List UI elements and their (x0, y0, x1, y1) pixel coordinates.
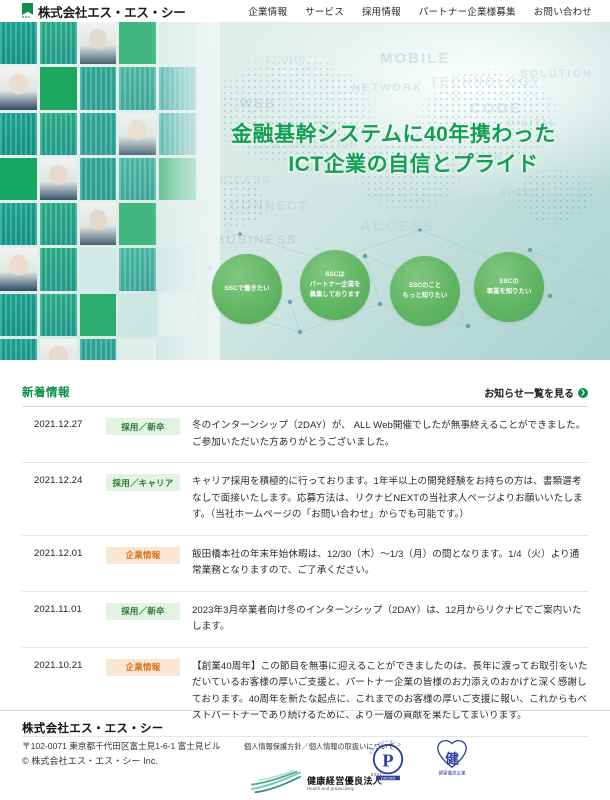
mosaic-color-tile (119, 203, 156, 245)
logo-text: 株式会社エス・エス・シー (38, 2, 186, 21)
pmark-number: 10823506 (381, 777, 396, 781)
news-date: 2021.11.01 (34, 603, 106, 615)
mosaic-color-tile (80, 158, 117, 200)
mosaic-color-tile (40, 113, 77, 155)
ssc-flag-logo-icon: ssc (22, 3, 33, 19)
logo-dots-label: ssc (22, 15, 30, 19)
hero-headline: 金融基幹システムに40年携わった ICT企業の自信とプライド (195, 120, 592, 181)
cta-circle-label: SSCのこともっと知りたい (398, 281, 453, 302)
cta-circle-business[interactable]: SSCの事業を知りたい (474, 252, 544, 322)
mosaic-color-tile (159, 22, 196, 64)
news-row[interactable]: 2021.12.27採用／新卒冬のインターンシップ（2DAY）が、 ALL We… (22, 407, 588, 463)
kenko-yuryo-kigyo-badge-icon: 健 健康優良企業 (432, 738, 472, 780)
nav-item-services[interactable]: サービス (305, 4, 344, 18)
mosaic-color-tile (80, 294, 117, 336)
mosaic-color-tile (119, 67, 156, 109)
footer-company-block: 株式会社エス・エス・シー 〒102-0071 東京都千代田区富士見1-6-1 富… (22, 720, 221, 800)
mosaic-color-tile (119, 22, 156, 64)
kenko-subtitle: Health and productivity (307, 787, 382, 792)
mosaic-photo-tile (119, 113, 156, 155)
mosaic-photo-tile (80, 22, 117, 64)
news-list: 2021.12.27採用／新卒冬のインターンシップ（2DAY）が、 ALL We… (22, 407, 588, 737)
svg-text:健康優良企業: 健康優良企業 (438, 769, 466, 776)
mosaic-color-tile (159, 113, 196, 155)
news-row[interactable]: 2021.11.01採用／新卒2023年3月卒業者向け冬のインターンシップ（2D… (22, 592, 588, 648)
footer-company-name: 株式会社エス・エス・シー (22, 720, 221, 736)
cta-circle-label: SSCで働きたい (219, 284, 274, 294)
news-text: 飯田橋本社の年末年始休暇は、12/30（木）〜1/3（月）の間となります。1/4… (192, 547, 588, 580)
site-logo[interactable]: ssc 株式会社エス・エス・シー (22, 2, 186, 21)
news-view-all-link[interactable]: お知らせ一覧を見る ❯ (484, 385, 588, 400)
footer-address: 〒102-0071 東京都千代田区富士見1-6-1 富士見ビル (22, 740, 221, 753)
mosaic-color-tile (119, 248, 156, 290)
chevron-right-circle-icon: ❯ (578, 388, 588, 398)
svg-text:健: 健 (445, 751, 459, 767)
news-row[interactable]: 2021.12.01企業情報飯田橋本社の年末年始休暇は、12/30（木）〜1/3… (22, 536, 588, 592)
nav-item-company[interactable]: 企業情報 (248, 4, 287, 18)
mosaic-photo-tile (40, 339, 77, 360)
mosaic-photo-tile (80, 203, 117, 245)
mosaic-photo-tile (0, 248, 37, 290)
cta-circle-work-at-ssc[interactable]: SSCで働きたい (212, 254, 282, 324)
mosaic-color-tile (80, 113, 117, 155)
news-header: 新着情報 お知らせ一覧を見る ❯ (22, 384, 588, 407)
footer-copyright: © 株式会社エス・エス・シー Inc. (22, 754, 221, 767)
mosaic-color-tile (0, 294, 37, 336)
footer-certification-badges: P プライバシーマーク 10823506 健 健康優良企業 (366, 738, 472, 784)
mosaic-color-tile (119, 339, 156, 360)
nav-item-partners[interactable]: パートナー企業様募集 (419, 4, 516, 18)
news-text: 冬のインターンシップ（2DAY）が、 ALL Web開催でしたが無事終えることが… (192, 418, 588, 451)
cta-circle-about-ssc[interactable]: SSCのこともっと知りたい (390, 256, 460, 326)
mosaic-color-tile (80, 248, 117, 290)
hero-banner: CLOUDNETWORKWEBADVANCECOMMUNICATIONIOTTE… (0, 22, 610, 360)
hero-photo-mosaic (0, 22, 196, 360)
news-text: キャリア採用を積極的に行っております。1年半以上の開発経験をお持ちの方は、書類選… (192, 474, 588, 524)
nav-item-careers[interactable]: 採用情報 (362, 4, 401, 18)
mosaic-photo-tile (0, 67, 37, 109)
mosaic-color-tile (159, 294, 196, 336)
mosaic-color-tile (80, 339, 117, 360)
site-footer: 株式会社エス・エス・シー 〒102-0071 東京都千代田区富士見1-6-1 富… (0, 710, 610, 800)
news-date: 2021.12.01 (34, 547, 106, 559)
mosaic-color-tile (159, 67, 196, 109)
news-category-badge: 採用／新卒 (106, 418, 180, 435)
news-category-badge: 採用／キャリア (106, 474, 180, 491)
svg-text:P: P (382, 751, 393, 771)
news-date: 2021.12.24 (34, 474, 106, 486)
mosaic-color-tile (159, 158, 196, 200)
hero-headline-line2: ICT企業の自信とプライド (195, 150, 592, 180)
mosaic-color-tile (159, 203, 196, 245)
cta-circle-partner-recruit[interactable]: SSCはパートナー企業を募集しております (300, 250, 370, 320)
mosaic-color-tile (40, 294, 77, 336)
news-category-badge: 採用／新卒 (106, 603, 180, 620)
mosaic-color-tile (40, 203, 77, 245)
privacy-mark-badge-icon: P プライバシーマーク 10823506 (366, 738, 410, 784)
kenko-keiei-logo: 2021 健康経営優良法人 Health and productivity (250, 770, 382, 794)
hero-headline-line1: 金融基幹システムに40年携わった (231, 123, 556, 146)
news-section: 新着情報 お知らせ一覧を見る ❯ 2021.12.27採用／新卒冬のインターンシ… (0, 360, 610, 737)
mosaic-color-tile (80, 67, 117, 109)
news-date: 2021.10.21 (34, 659, 106, 671)
nav-item-contact[interactable]: お問い合わせ (534, 4, 592, 18)
news-section-title: 新着情報 (22, 384, 70, 400)
mosaic-color-tile (40, 248, 77, 290)
mosaic-photo-tile (40, 158, 77, 200)
mosaic-color-tile (40, 67, 77, 109)
mosaic-color-tile (40, 22, 77, 64)
cta-circle-label: SSCはパートナー企業を募集しております (304, 270, 365, 301)
mosaic-color-tile (159, 339, 196, 360)
mosaic-color-tile (0, 113, 37, 155)
hero-cta-circles: SSCで働きたい SSCはパートナー企業を募集しております SSCのこともっと知… (212, 250, 592, 326)
mosaic-color-tile (0, 158, 37, 200)
news-row[interactable]: 2021.12.24採用／キャリアキャリア採用を積極的に行っております。1年半以… (22, 463, 588, 536)
site-header: ssc 株式会社エス・エス・シー 企業情報 サービス 採用情報 パートナー企業様… (0, 0, 610, 22)
mosaic-color-tile (159, 248, 196, 290)
news-date: 2021.12.27 (34, 418, 106, 430)
mosaic-color-tile (0, 339, 37, 360)
mosaic-color-tile (119, 294, 156, 336)
news-category-badge: 企業情報 (106, 547, 180, 564)
main-navigation: 企業情報 サービス 採用情報 パートナー企業様募集 お問い合わせ (248, 4, 592, 18)
news-category-badge: 企業情報 (106, 659, 180, 676)
cta-circle-label: SSCの事業を知りたい (482, 277, 537, 298)
kenko-wave-icon (250, 770, 302, 794)
mosaic-color-tile (0, 22, 37, 64)
mosaic-color-tile (0, 203, 37, 245)
mosaic-color-tile (119, 158, 156, 200)
news-view-all-label: お知らせ一覧を見る (484, 385, 574, 400)
news-text: 2023年3月卒業者向け冬のインターンシップ（2DAY）は、12月からリクナビで… (192, 603, 588, 636)
